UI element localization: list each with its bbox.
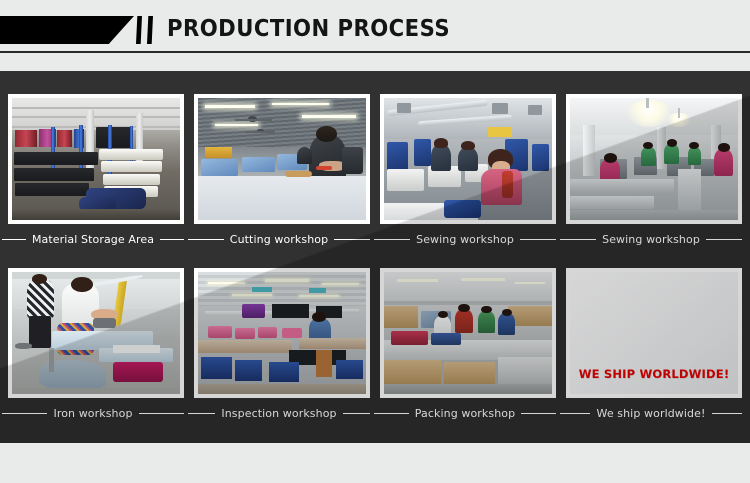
photo-warehouse-storage (12, 98, 180, 220)
caption-rule-left (188, 239, 224, 240)
caption-rule-left (560, 413, 590, 414)
page-title: PRODUCTION PROCESS (167, 14, 450, 44)
gallery-cell-sewing-workshop-1[interactable] (380, 94, 556, 224)
caption-rule-right (706, 239, 742, 240)
caption-rule-left (560, 239, 596, 240)
caption-rule-left (374, 239, 410, 240)
caption-rule-right (520, 239, 556, 240)
caption-label: Cutting workshop (230, 233, 328, 246)
photo-frame (8, 268, 184, 398)
header-banner-shape (0, 16, 134, 44)
caption-packing-workshop: Packing workshop (372, 405, 558, 421)
photo-frame: WE SHIP WORLDWIDE! (566, 268, 742, 398)
photo-frame (8, 94, 184, 224)
photo-frame (194, 268, 370, 398)
caption-rule-right (160, 239, 184, 240)
caption-rule-right (521, 413, 556, 414)
photo-frame (380, 268, 556, 398)
gallery-cell-material-storage-area[interactable] (8, 94, 184, 224)
gallery-row-1-captions: Material Storage Area Cutting workshop S… (0, 231, 750, 247)
gallery-cell-we-ship-worldwide[interactable]: WE SHIP WORLDWIDE! (566, 268, 742, 398)
caption-iron-workshop: Iron workshop (0, 405, 186, 421)
caption-rule-left (188, 413, 215, 414)
photo-inspection-benches (198, 272, 366, 394)
caption-rule-right (343, 413, 370, 414)
shipping-graphic-text: WE SHIP WORLDWIDE! (570, 367, 738, 381)
caption-label: Sewing workshop (602, 233, 700, 246)
caption-rule-right (334, 239, 370, 240)
gallery-grid: Material Storage Area Cutting workshop S… (0, 71, 750, 443)
page-header: PRODUCTION PROCESS (0, 0, 750, 56)
gallery-row-2-captions: Iron workshop Inspection workshop Packin… (0, 405, 750, 421)
photo-cutting-table (198, 98, 366, 220)
caption-rule-left (2, 239, 26, 240)
photo-sewing-line-b (570, 98, 738, 220)
photo-packing-tables (384, 272, 552, 394)
gallery-cell-inspection-workshop[interactable] (194, 268, 370, 398)
caption-cutting-workshop: Cutting workshop (186, 231, 372, 247)
gallery-cell-cutting-workshop[interactable] (194, 94, 370, 224)
header-divider (0, 51, 750, 53)
caption-sewing-workshop-2: Sewing workshop (558, 231, 744, 247)
caption-label: Packing workshop (415, 407, 515, 420)
production-process-page: PRODUCTION PROCESS (0, 0, 750, 483)
gallery-row-2: WE SHIP WORLDWIDE! (8, 268, 742, 398)
gallery-cell-sewing-workshop-2[interactable] (566, 94, 742, 224)
photo-sewing-line-a (384, 98, 552, 220)
photo-ironing-station (12, 272, 180, 394)
caption-label: We ship worldwide! (596, 407, 705, 420)
gallery-cell-iron-workshop[interactable] (8, 268, 184, 398)
caption-rule-left (374, 413, 409, 414)
gallery-panel: Material Storage Area Cutting workshop S… (0, 71, 750, 443)
caption-material-storage-area: Material Storage Area (0, 231, 186, 247)
photo-frame (380, 94, 556, 224)
photo-frame (566, 94, 742, 224)
caption-rule-right (139, 413, 184, 414)
double-slash-icon (136, 16, 158, 44)
gallery-cell-packing-workshop[interactable] (380, 268, 556, 398)
caption-label: Inspection workshop (221, 407, 336, 420)
photo-world-map-banner: WE SHIP WORLDWIDE! (570, 272, 738, 394)
caption-label: Material Storage Area (32, 233, 154, 246)
caption-sewing-workshop-1: Sewing workshop (372, 231, 558, 247)
caption-rule-left (2, 413, 47, 414)
caption-rule-right (712, 413, 742, 414)
photo-frame (194, 94, 370, 224)
caption-inspection-workshop: Inspection workshop (186, 405, 372, 421)
caption-we-ship-worldwide: We ship worldwide! (558, 405, 744, 421)
caption-label: Iron workshop (53, 407, 132, 420)
caption-label: Sewing workshop (416, 233, 514, 246)
gallery-row-1 (8, 94, 742, 224)
